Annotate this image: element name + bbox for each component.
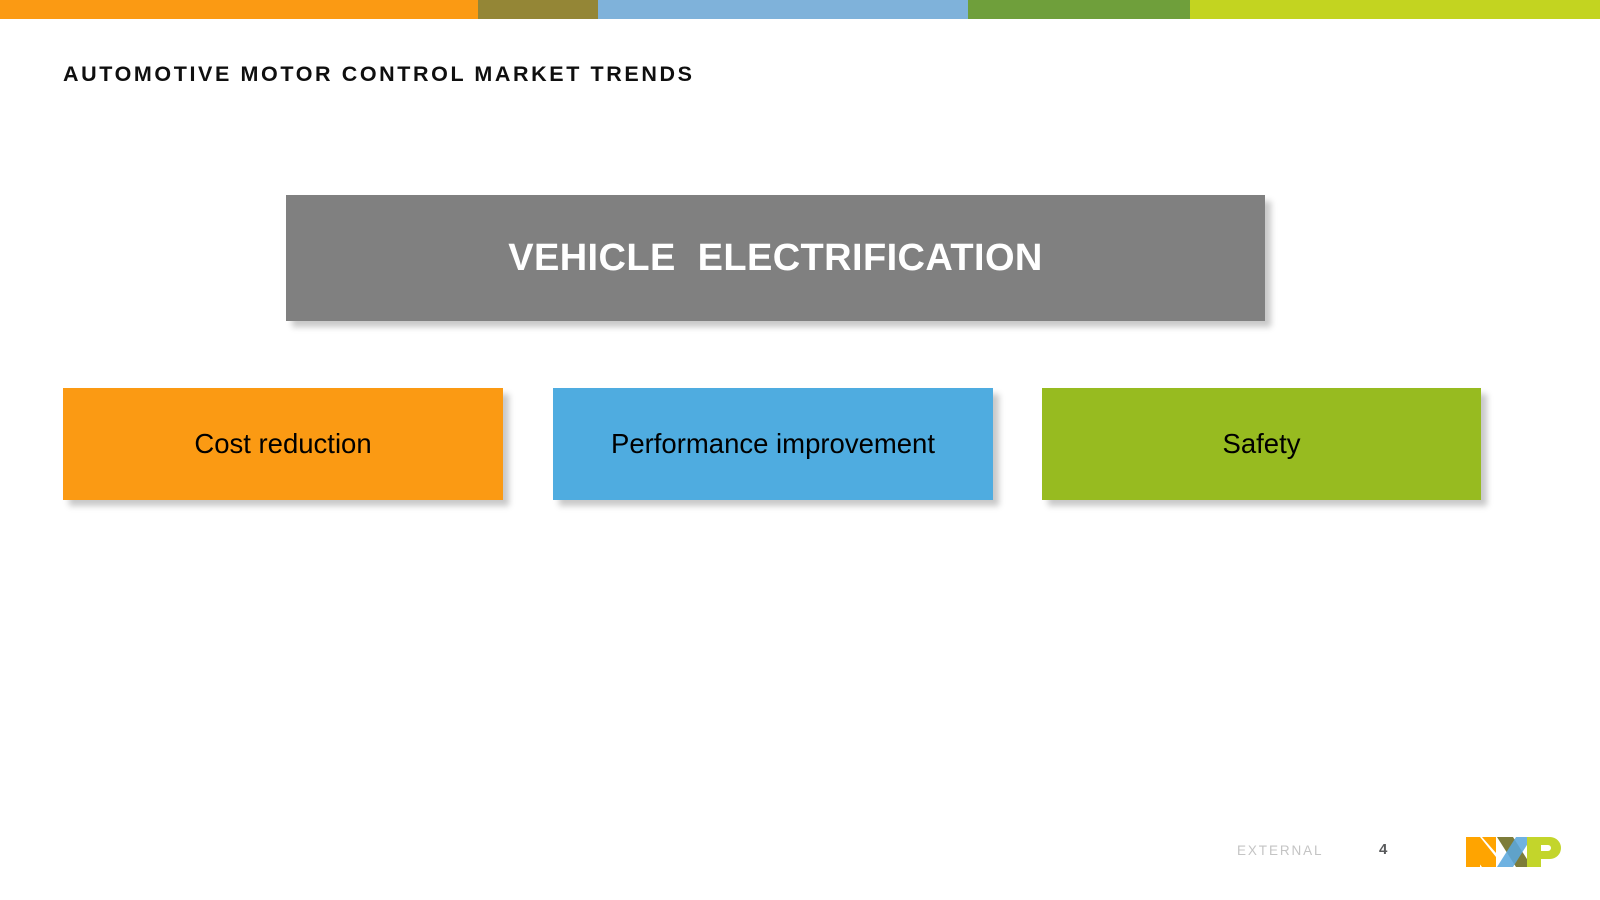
banner-label: VEHICLE ELECTRIFICATION: [508, 237, 1043, 280]
color-band-segment-lime: [1190, 0, 1600, 19]
color-band-segment-orange: [0, 0, 478, 19]
pillar-label-performance-improvement: Performance improvement: [611, 430, 935, 458]
nxp-logo-letter-p: [1527, 837, 1561, 867]
page-title: Automotive Motor Control Market Trends: [63, 62, 695, 87]
color-band-segment-green: [968, 0, 1190, 19]
color-band-segment-light-blue: [598, 0, 968, 19]
confidentiality-label: EXTERNAL: [1237, 843, 1323, 858]
pillar-label-cost-reduction: Cost reduction: [194, 430, 371, 458]
vehicle-electrification-banner: VEHICLE ELECTRIFICATION: [286, 195, 1265, 321]
page-number: 4: [1379, 841, 1387, 858]
pillar-label-safety: Safety: [1223, 430, 1301, 458]
top-color-band: [0, 0, 1600, 19]
pillar-box-performance-improvement: Performance improvement: [553, 388, 993, 500]
nxp-logo: [1464, 833, 1568, 869]
slide-canvas: Automotive Motor Control Market Trends V…: [0, 0, 1600, 900]
color-band-segment-olive: [478, 0, 598, 19]
pillar-box-safety: Safety: [1042, 388, 1481, 500]
pillar-box-cost-reduction: Cost reduction: [63, 388, 503, 500]
